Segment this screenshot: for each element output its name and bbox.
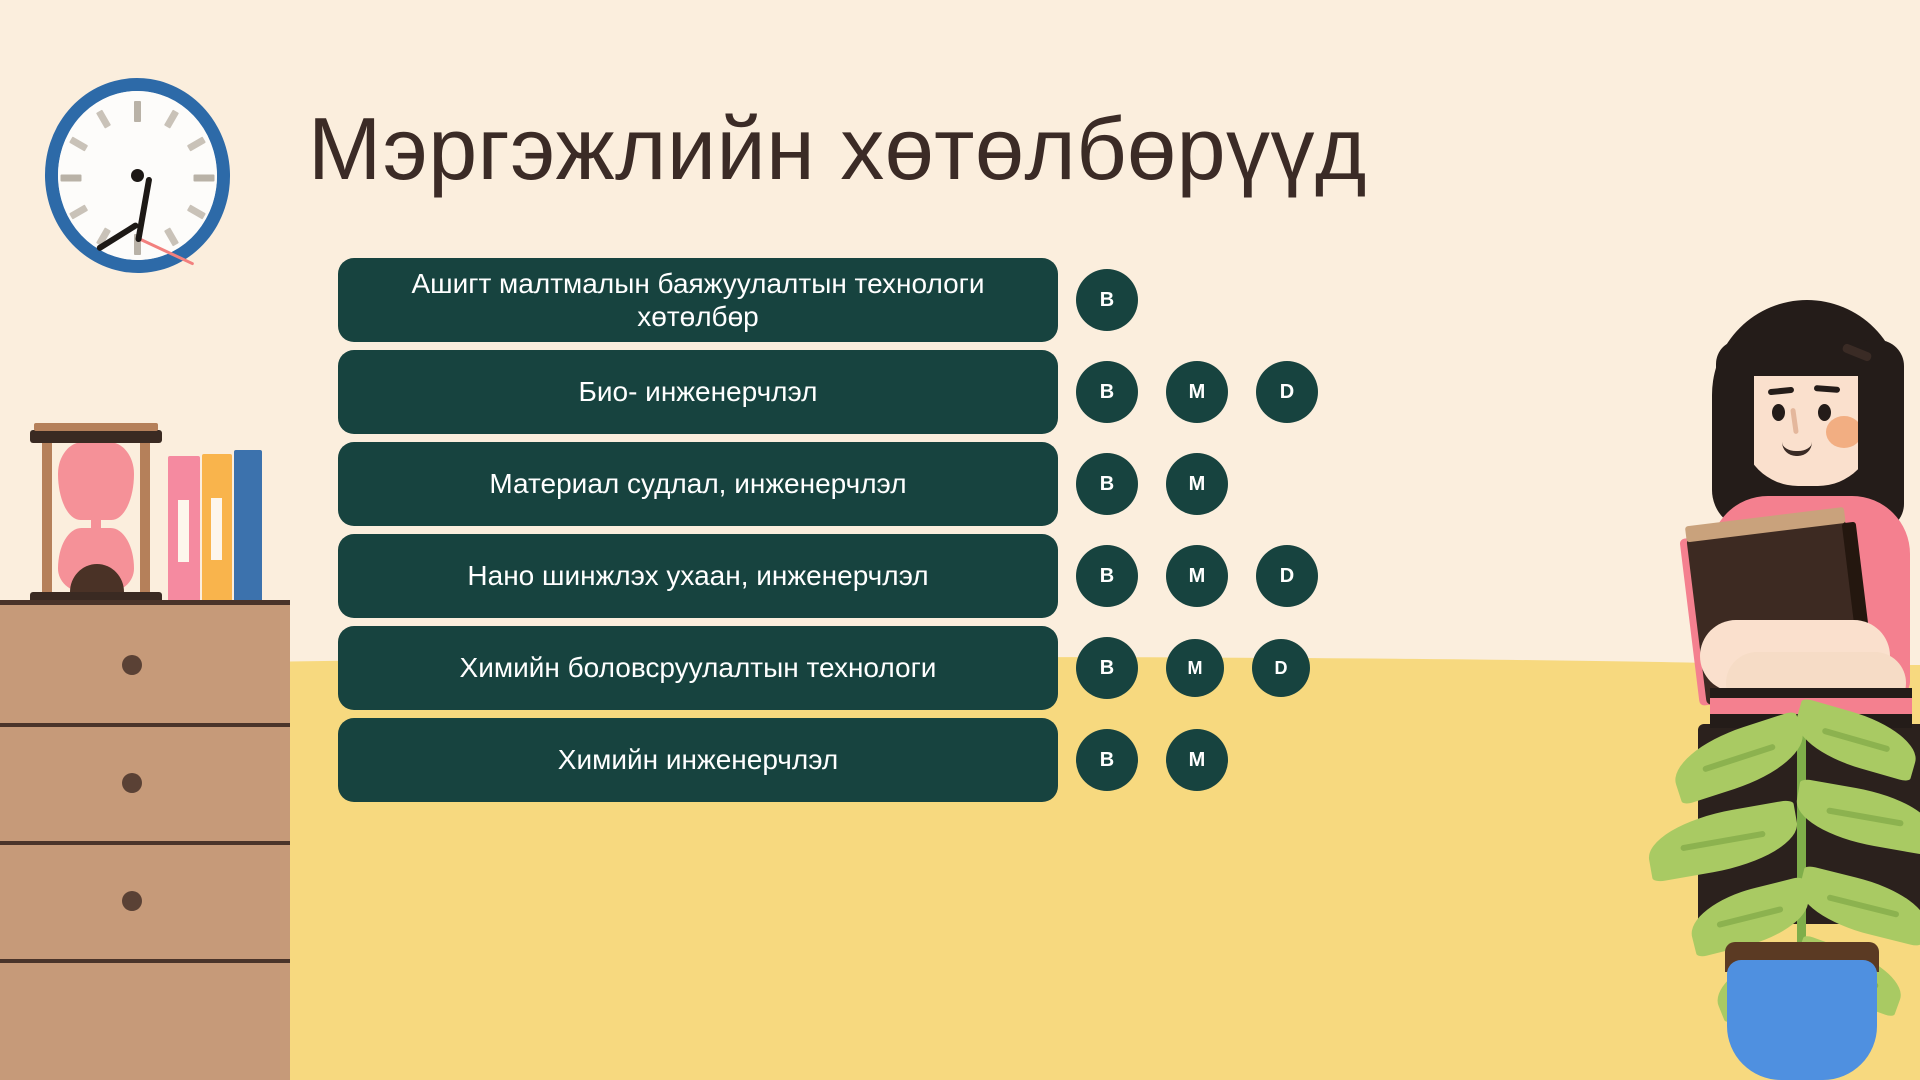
- degree-badge-d[interactable]: D: [1256, 361, 1318, 423]
- degree-badge-m[interactable]: M: [1166, 729, 1228, 791]
- wall-clock-illustration: [45, 78, 230, 273]
- program-bar[interactable]: Химийн инженерчлэл: [338, 718, 1058, 802]
- dresser-knob: [122, 891, 142, 911]
- degree-badge-group: BM: [1076, 442, 1228, 526]
- clock-tick: [69, 204, 88, 219]
- degree-badge-m[interactable]: M: [1166, 453, 1228, 515]
- book-orange: [202, 454, 232, 606]
- degree-badge-b[interactable]: B: [1076, 637, 1138, 699]
- hourglass-post-right: [140, 438, 150, 597]
- degree-badge-group: BMD: [1076, 626, 1310, 710]
- dresser-knob: [122, 655, 142, 675]
- program-name: Химийн инженерчлэл: [558, 743, 838, 776]
- degree-badge-group: BMD: [1076, 350, 1318, 434]
- dresser-divider: [0, 841, 290, 845]
- dresser-divider: [0, 723, 290, 727]
- potted-plant-illustration: [1665, 690, 1920, 1080]
- slide-canvas: Мэргэжлийн хөтөлбөрүүд Ашигт малтмалын б…: [0, 0, 1920, 1080]
- student-eye-left: [1772, 404, 1785, 421]
- program-bar[interactable]: Материал судлал, инженерчлэл: [338, 442, 1058, 526]
- book-stack-illustration: [168, 450, 264, 606]
- degree-badge-b[interactable]: B: [1076, 729, 1138, 791]
- degree-badge-d[interactable]: D: [1252, 639, 1310, 697]
- hourglass-sand-top: [58, 442, 134, 520]
- program-row: Ашигт малтмалын баяжуулалтын технологи х…: [338, 258, 1338, 342]
- page-title: Мэргэжлийн хөтөлбөрүүд: [308, 103, 1428, 195]
- degree-badge-b[interactable]: B: [1076, 269, 1138, 331]
- program-row: Био- инженерчлэлBMD: [338, 350, 1338, 434]
- program-row: Нано шинжлэх ухаан, инженерчлэлBMD: [338, 534, 1338, 618]
- plant-leaf: [1666, 710, 1813, 805]
- program-bar[interactable]: Химийн боловсруулалтын технологи: [338, 626, 1058, 710]
- clock-tick: [164, 110, 179, 129]
- student-eye-right: [1818, 404, 1831, 421]
- degree-badge-m[interactable]: M: [1166, 639, 1224, 697]
- clock-tick: [187, 204, 206, 219]
- clock-minute-hand: [135, 176, 152, 242]
- dresser-illustration: [0, 600, 290, 1080]
- clock-tick: [187, 136, 206, 151]
- student-blush: [1826, 416, 1862, 448]
- degree-badge-b[interactable]: B: [1076, 545, 1138, 607]
- degree-badge-m[interactable]: M: [1166, 361, 1228, 423]
- program-list: Ашигт малтмалын баяжуулалтын технологи х…: [338, 258, 1338, 810]
- hourglass-illustration: [30, 430, 162, 605]
- degree-badge-group: BMD: [1076, 534, 1318, 618]
- clock-tick: [69, 136, 88, 151]
- book-blue: [234, 450, 262, 606]
- clock-face: [58, 91, 217, 260]
- program-name: Био- инженерчлэл: [578, 375, 817, 408]
- book-pink: [168, 456, 200, 606]
- plant-leaf: [1793, 865, 1920, 947]
- clock-tick: [164, 227, 179, 246]
- program-bar[interactable]: Ашигт малтмалын баяжуулалтын технологи х…: [338, 258, 1058, 342]
- program-row: Материал судлал, инженерчлэлBM: [338, 442, 1338, 526]
- hourglass-post-left: [42, 438, 52, 597]
- plant-leaf: [1643, 799, 1803, 883]
- hourglass-cap-top: [30, 430, 162, 443]
- dresser-divider: [0, 959, 290, 963]
- clock-tick: [61, 175, 82, 182]
- program-row: Химийн боловсруулалтын технологиBMD: [338, 626, 1338, 710]
- clock-pivot: [131, 169, 144, 182]
- degree-badge-group: BM: [1076, 718, 1228, 802]
- program-bar[interactable]: Био- инженерчлэл: [338, 350, 1058, 434]
- clock-tick: [134, 101, 141, 122]
- dresser-knob: [122, 773, 142, 793]
- degree-badge-b[interactable]: B: [1076, 453, 1138, 515]
- program-name: Ашигт малтмалын баяжуулалтын технологи х…: [360, 267, 1036, 333]
- student-hair-left: [1716, 340, 1754, 520]
- degree-badge-b[interactable]: B: [1076, 361, 1138, 423]
- degree-badge-d[interactable]: D: [1256, 545, 1318, 607]
- program-bar[interactable]: Нано шинжлэх ухаан, инженерчлэл: [338, 534, 1058, 618]
- program-row: Химийн инженерчлэлBM: [338, 718, 1338, 802]
- program-name: Нано шинжлэх ухаан, инженерчлэл: [467, 559, 928, 592]
- clock-tick: [96, 110, 111, 129]
- plant-leaf: [1788, 698, 1920, 783]
- plant-leaf: [1791, 778, 1920, 855]
- plant-pot: [1727, 960, 1877, 1080]
- program-name: Материал судлал, инженерчлэл: [489, 467, 906, 500]
- clock-tick: [194, 175, 215, 182]
- program-name: Химийн боловсруулалтын технологи: [460, 651, 937, 684]
- degree-badge-m[interactable]: M: [1166, 545, 1228, 607]
- degree-badge-group: B: [1076, 258, 1138, 342]
